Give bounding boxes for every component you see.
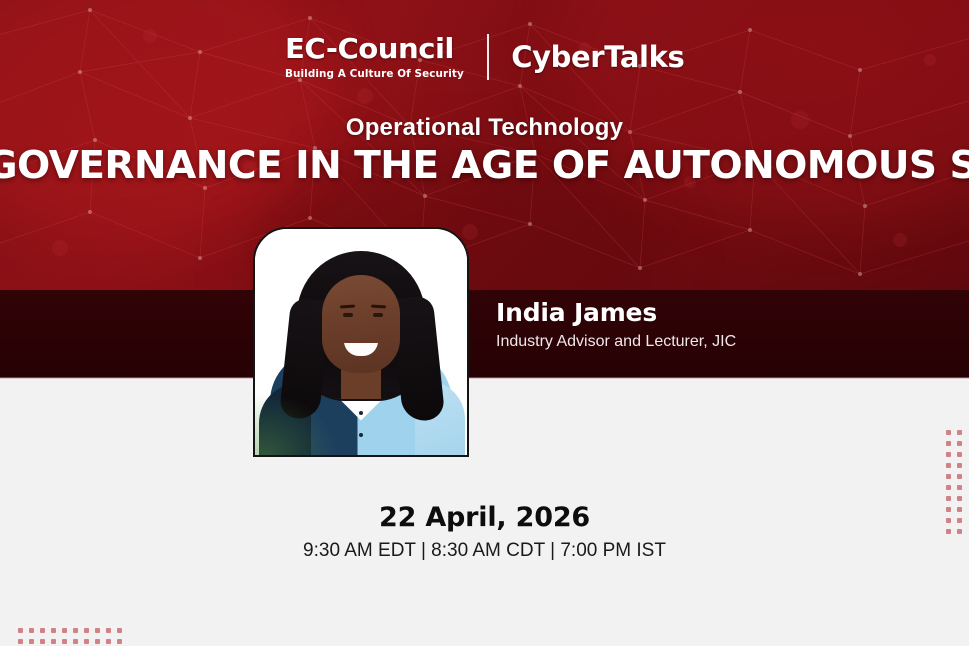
decor-dot [946,529,951,534]
cardigan-button [359,433,363,437]
ec-council-tagline: Building A Culture Of Security [285,69,464,80]
speaker-role: Industry Advisor and Lecturer, JIC [496,332,766,352]
photo-watermark [255,385,347,455]
ec-council-logo: EC-Council Building A Culture Of Securit… [285,35,466,80]
speaker-photo [253,227,469,457]
decor-dot [957,518,962,523]
decor-dot [117,628,122,633]
speaker-face [322,275,400,373]
decor-dot [106,628,111,633]
header-banner: EC-Council Building A Culture Of Securit… [0,0,969,290]
decor-dot [18,628,23,633]
decor-dot [51,628,56,633]
decor-dot [957,485,962,490]
speaker-photo-image [255,229,467,455]
decor-dot [946,496,951,501]
speaker-eye-left [343,313,353,317]
decor-dot [84,639,89,644]
speaker-neck [341,369,381,399]
decor-dot [946,463,951,468]
decor-dot [73,628,78,633]
cybertalks-wordmark: CyberTalks [511,43,684,72]
decor-dot [95,628,100,633]
brand-logo-lockup: EC-Council Building A Culture Of Securit… [0,34,969,80]
decor-dot [957,430,962,435]
decor-dot [957,441,962,446]
decor-dot [29,639,34,644]
decor-dot [40,628,45,633]
decor-dot [62,628,67,633]
decor-dot [117,639,122,644]
dot-grid-bottom [18,628,128,646]
decor-dot [62,639,67,644]
decor-dot [946,485,951,490]
decor-dot [957,452,962,457]
decor-dot [106,639,111,644]
decor-dot [957,463,962,468]
decor-dot [40,639,45,644]
eyebrow-text: Operational Technology [0,114,969,142]
cardigan-button [359,411,363,415]
speaker-info: India James Industry Advisor and Lecture… [496,299,876,352]
decor-dot [946,441,951,446]
decor-dot [51,639,56,644]
decor-dot [957,496,962,501]
speaker-eye-right [373,313,383,317]
logo-divider [487,34,489,80]
event-date: 22 April, 2026 [0,502,969,533]
event-times: 9:30 AM EDT | 8:30 AM CDT | 7:00 PM IST [0,540,969,562]
decor-dot [957,474,962,479]
decor-dot [95,639,100,644]
page-title: GOVERNANCE IN THE AGE OF AUTONOMOUS SYST… [0,144,969,188]
decor-dot [946,518,951,523]
webinar-promo-poster: EC-Council Building A Culture Of Securit… [0,0,969,646]
ec-council-wordmark: EC-Council [285,35,454,63]
dot-grid-right [946,430,968,540]
decor-dot [946,507,951,512]
decor-dot [29,628,34,633]
speaker-name: India James [496,299,876,327]
decor-dot [946,430,951,435]
decor-dot [84,628,89,633]
decor-dot [18,639,23,644]
decor-dot [957,507,962,512]
decor-dot [946,452,951,457]
decor-dot [946,474,951,479]
band-bottom-edge [0,377,969,379]
decor-dot [957,529,962,534]
decor-dot [73,639,78,644]
